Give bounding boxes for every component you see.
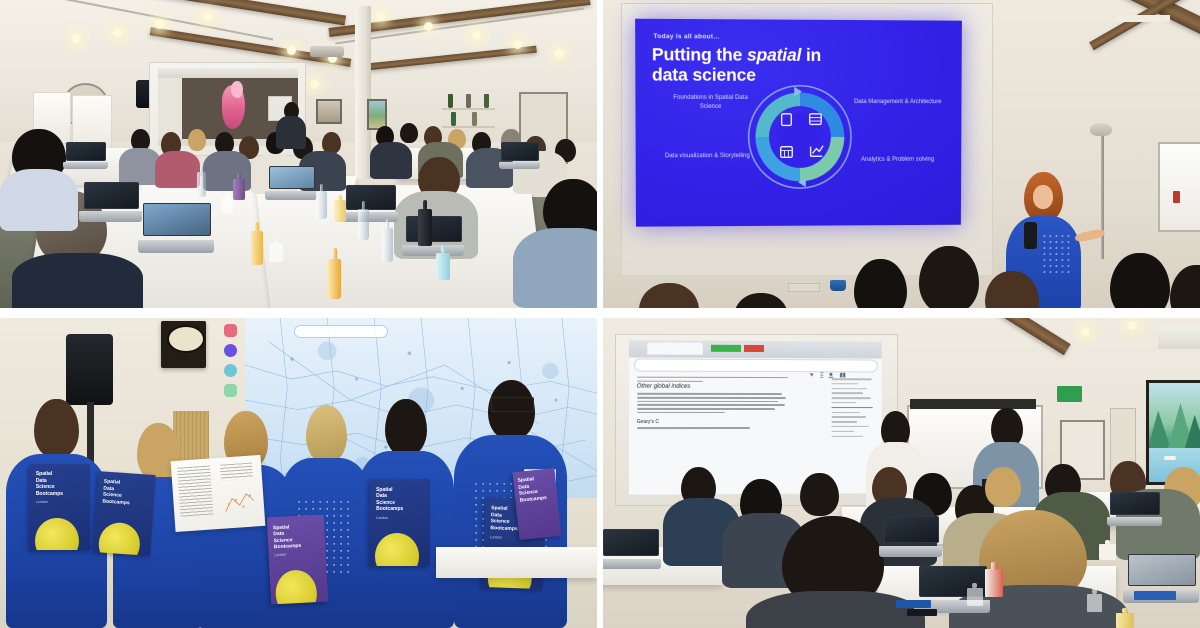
foreground-attendee-body [12, 253, 143, 308]
course-booklet: SpatialDataScienceBootcamps [93, 471, 155, 555]
ceiling-strip [1116, 15, 1170, 21]
drinking-glass [967, 588, 983, 607]
laptop [1110, 492, 1158, 526]
team-group-photo: SpatialDataScienceBootcamps London Spati… [0, 318, 597, 628]
blue-notebook [1134, 591, 1176, 600]
whiteboard-pen-tray [910, 399, 1035, 409]
travel-mug [418, 209, 432, 246]
laptop-screen [1110, 492, 1160, 515]
laptop-screen [269, 166, 316, 189]
browser-window: Other global indices Geary's C [629, 341, 881, 496]
laptop-keyboard [603, 559, 661, 569]
laptop-screen [84, 182, 140, 209]
smartphone [907, 609, 937, 615]
bottle-shelf [442, 108, 496, 110]
fire-alarm-call-point [1173, 191, 1180, 203]
laptop [346, 185, 394, 222]
speaker-face [1033, 185, 1053, 210]
wine-bottle [484, 94, 489, 108]
power-sockets [788, 283, 820, 292]
drink-can [334, 200, 346, 222]
slide-title-emphasis: spatial [747, 45, 801, 65]
support-column [355, 6, 371, 178]
water-bottle [382, 228, 393, 262]
lecture-session-photo: Other global indices Geary's C [603, 318, 1200, 628]
dock-icon-purple[interactable] [224, 344, 237, 357]
glasses-icon [491, 397, 534, 411]
laptop-screen [501, 142, 539, 161]
juice-carton [985, 569, 1003, 597]
attendee-body [155, 151, 200, 188]
rocket-icon [809, 374, 813, 377]
ceiling-spotlight [72, 34, 81, 43]
water-bottle [316, 191, 326, 219]
course-booklet: SpatialDataScienceBootcamps [513, 468, 562, 540]
ceiling-spotlight [424, 22, 433, 31]
photo-top-left [0, 0, 597, 308]
booklet-globe-graphic [96, 521, 141, 555]
foreground-attendee-body [513, 228, 597, 308]
laptop [406, 216, 460, 256]
blue-notebook [896, 600, 932, 607]
workbook-scatter-figure [221, 482, 259, 519]
horizontal-gutter [0, 308, 1200, 318]
ceiling-projector [310, 46, 344, 57]
laptop-keyboard [63, 162, 108, 169]
laptop-keyboard [138, 240, 214, 253]
pa-speaker [66, 334, 114, 405]
laptop-keyboard [1107, 517, 1162, 526]
booklet-subtitle: London [376, 516, 388, 520]
keynote-slide-photo: Today is all about... Putting the spatia… [603, 0, 1200, 308]
person-head [385, 399, 427, 456]
speaker-tshirt-graphic [1042, 234, 1072, 274]
laptop-keyboard [499, 162, 541, 169]
air-conditioning-unit [1158, 327, 1200, 349]
laptop-keyboard [265, 191, 317, 200]
laptop-screen [406, 216, 462, 243]
photo-collage: Today is all about... Putting the spatia… [0, 0, 1200, 628]
ceiling-spotlight [287, 46, 296, 55]
photo-top-right: Today is all about... Putting the spatia… [603, 0, 1200, 308]
laptop [501, 142, 537, 170]
wine-bottle [472, 112, 477, 126]
drinking-glass [269, 243, 283, 261]
laptop-screen [346, 185, 396, 210]
open-workbook-spread [171, 454, 265, 531]
booklet-subtitle: London [274, 553, 286, 558]
foreground-attendee-body [746, 591, 925, 628]
dock-icon-teal[interactable] [224, 364, 237, 377]
projection-screen: Today is all about... Putting the spatia… [621, 3, 993, 276]
dock-icon-pink[interactable] [224, 324, 237, 337]
wine-bottle [448, 94, 453, 108]
course-booklet: SpatialDataScienceBootcamps London [30, 464, 90, 551]
laptop [603, 529, 657, 569]
booklet-title: SpatialDataScienceBootcamps [102, 479, 150, 508]
map-search-input[interactable] [294, 325, 388, 338]
slide-title-line-2: data science [652, 65, 756, 85]
laptop [269, 166, 314, 200]
booklet-globe-graphic [35, 518, 79, 551]
booklet-title: SpatialDataScienceBootcamps [272, 523, 320, 551]
wall-clock [161, 321, 206, 368]
juice-bottle [251, 231, 263, 265]
ceiling-spotlight [1081, 327, 1090, 336]
foreground-attendee-body [0, 169, 78, 231]
progress-indicator-green [711, 345, 741, 353]
booklet-subtitle: London [490, 535, 502, 539]
floor-lamp-shade [1090, 123, 1112, 136]
attendee-head [800, 473, 839, 516]
cycle-label-data-management: Data Management & Architecture [850, 99, 945, 108]
browser-tab[interactable] [647, 343, 703, 355]
laptop-screen [884, 516, 940, 543]
browser-chrome [629, 341, 881, 359]
attendee-head [985, 467, 1021, 507]
booklet-title: SpatialDataScienceBootcamps [36, 471, 85, 497]
progress-indicator-red [744, 345, 764, 353]
laptop [66, 142, 105, 170]
travel-mug [233, 179, 245, 201]
drink-glass [1116, 613, 1134, 628]
document-subheading: Geary's C [637, 420, 794, 426]
floor-lamp-pole [1101, 136, 1104, 259]
wine-bottle [451, 112, 456, 126]
document-heading: Other global indices [637, 384, 794, 390]
laptop-keyboard [79, 211, 141, 221]
cycle-label-foundations: Foundations in Spatial Data Science [662, 94, 759, 112]
ceiling-spotlight [472, 31, 481, 40]
attendee-body [370, 142, 412, 179]
water-bottle [358, 209, 369, 240]
gis-toolbar [158, 68, 298, 78]
slide-title-part-1: Putting the [652, 44, 747, 65]
wide-classroom-photo [0, 0, 597, 308]
cycle-label-analytics: Analytics & Problem solving [850, 156, 945, 165]
water-bottle [197, 172, 206, 197]
course-booklet: SpatialDataScienceBootcamps London [370, 479, 430, 566]
juice-bottle [328, 259, 341, 299]
fullscreen-icon [820, 373, 823, 378]
presenter-body [276, 116, 306, 150]
booklet-globe-graphic [274, 569, 318, 604]
laptop-keyboard [402, 245, 464, 255]
microphone-icon [1024, 222, 1037, 250]
document-toolbar[interactable] [786, 366, 871, 374]
exit-sign [1057, 386, 1082, 402]
poster-boat [1164, 456, 1175, 460]
person-head [34, 399, 79, 459]
laptop [884, 516, 938, 556]
workbook-text-column [220, 462, 253, 480]
cycle-label-visualisation: Data visualization & Storytelling [659, 152, 756, 161]
laptop-screen [1128, 554, 1196, 587]
document-body: Other global indices Geary's C [637, 375, 794, 490]
booklet-subtitle: London [36, 500, 48, 504]
laptop [84, 182, 138, 222]
clock-face [167, 325, 205, 353]
slide-title-part-2: in [801, 45, 821, 65]
slide-eyebrow: Today is all about... [653, 34, 719, 41]
laptop-screen [603, 529, 659, 556]
drinking-glass [221, 197, 233, 212]
side-table [436, 547, 597, 578]
audience-head [919, 246, 979, 308]
bottle-shelf [442, 126, 496, 128]
booklet-globe-graphic [375, 533, 419, 566]
drinking-glass [1087, 594, 1103, 613]
workbook-text-column [177, 465, 213, 517]
wine-bottle [466, 94, 471, 108]
laptop-screen [143, 203, 211, 236]
booklet-title: SpatialDataScienceBootcamps [518, 474, 555, 503]
attendee-head [400, 123, 418, 143]
photo-bottom-left: SpatialDataScienceBootcamps London Spati… [0, 318, 597, 628]
whiteboard [1158, 142, 1200, 232]
course-booklet: SpatialDataScienceBootcamps London [266, 515, 327, 605]
laptop-keyboard [879, 546, 941, 556]
drink-can [436, 253, 450, 281]
laptop-screen [66, 142, 107, 161]
wall-art-panel [316, 99, 341, 125]
mug [1099, 544, 1117, 560]
laptop-keyboard [342, 212, 397, 222]
dock-icon-green[interactable] [224, 384, 237, 397]
booklet-title: SpatialDataScienceBootcamps [376, 487, 425, 513]
attendee-head [188, 129, 206, 151]
person-head [306, 405, 347, 463]
presentation-slide: Today is all about... Putting the spatia… [635, 19, 962, 227]
pencil-cup [830, 280, 846, 291]
photo-bottom-right: Other global indices Geary's C [603, 318, 1200, 628]
laptop [143, 203, 209, 252]
choropleth-map-highlight [231, 81, 244, 98]
